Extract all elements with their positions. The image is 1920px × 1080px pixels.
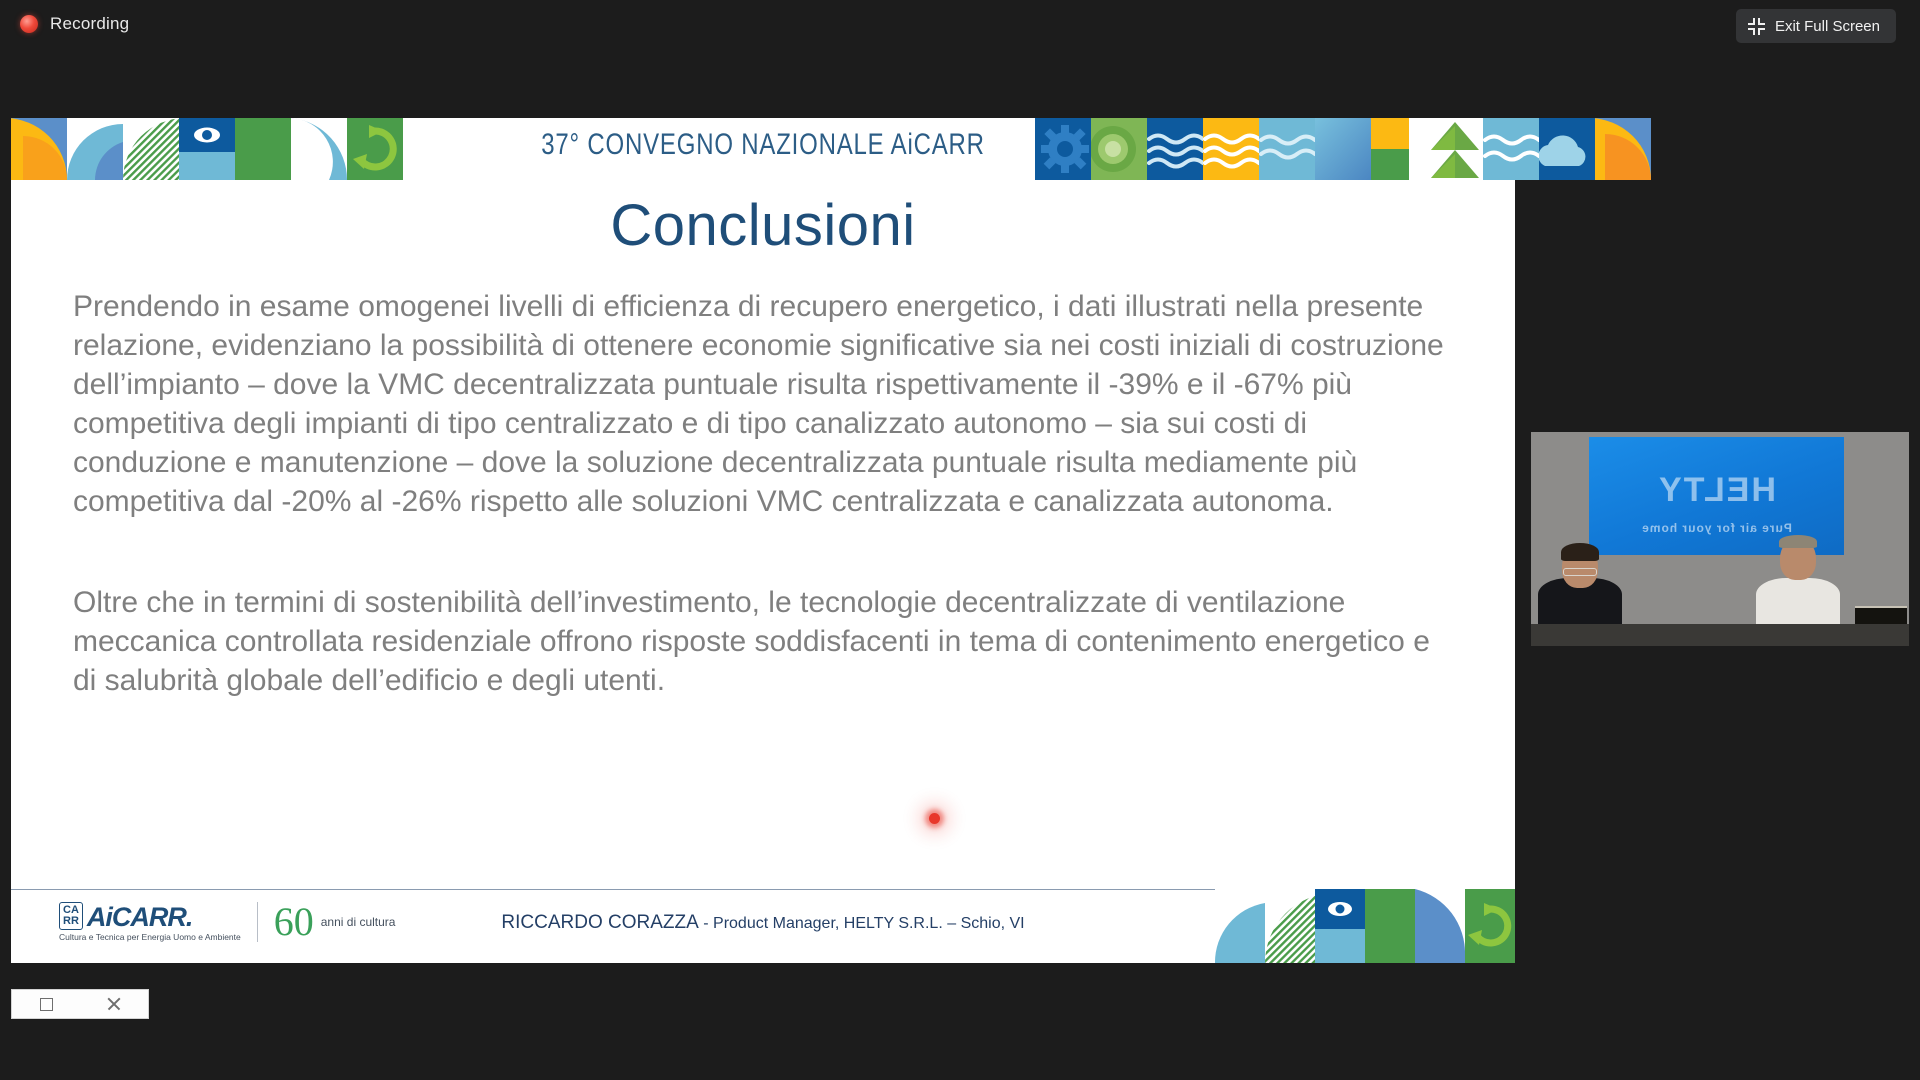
slide-paragraph-2: Oltre che in termini di sostenibilità de… (73, 583, 1455, 700)
tile-cloud-icon (1539, 118, 1595, 180)
top-bar: Recording Exit Full Screen (0, 0, 1920, 60)
slide-body: Prendendo in esame omogenei livelli di e… (73, 287, 1455, 700)
tile-waves-lightblue-icon (1259, 118, 1315, 180)
tile-waves-blue-icon (1147, 118, 1203, 180)
laser-pointer-dot (929, 813, 940, 824)
tile-trees-icon (1427, 118, 1483, 180)
tile-waves-teal-icon (1483, 118, 1539, 180)
slide-heading: Conclusioni (11, 192, 1515, 259)
tile-gear-icon (1035, 118, 1091, 180)
exit-full-screen-button[interactable]: Exit Full Screen (1736, 9, 1896, 43)
video-person-left-glasses-icon (1563, 568, 1597, 576)
video-person-right-hair (1779, 535, 1817, 548)
restore-window-button[interactable] (12, 990, 80, 1018)
tile-blue-arc-icon (67, 118, 123, 180)
footer-tile-recycle-arrows-icon (1465, 889, 1515, 963)
collapse-arrows-icon (1748, 18, 1765, 35)
video-monitor-object (1855, 606, 1907, 624)
video-person-right (1755, 538, 1841, 624)
projection-logo-text: HELTY (1589, 471, 1844, 510)
presentation-slide[interactable]: 37° CONVEGNO NAZIONALE AiCARR (11, 118, 1515, 963)
footer-tile-blue-arc-icon (1215, 889, 1265, 963)
window-controls-bar (11, 989, 149, 1019)
close-window-button[interactable] (80, 990, 148, 1018)
participant-video-thumbnail[interactable]: HELTY Pure air for your home (1531, 432, 1909, 646)
slide-paragraph-1: Prendendo in esame omogenei livelli di e… (73, 287, 1455, 521)
tile-yellow-green-squares-icon (1371, 118, 1427, 180)
presenter-name: RICCARDO CORAZZA (501, 912, 698, 933)
recording-dot-icon (20, 15, 38, 33)
footer-tiles-right (1215, 889, 1515, 963)
slide-header-band: 37° CONVEGNO NAZIONALE AiCARR (11, 118, 1515, 180)
tile-orange-arc-icon (11, 118, 67, 180)
tile-blue-gradient-icon (1315, 118, 1371, 180)
footer-tile-white-arc-icon (1415, 889, 1465, 963)
video-table (1531, 624, 1909, 646)
footer-tile-green-icon (1365, 889, 1415, 963)
slide-footer: CA RR AiCARR. Cultura e Tecnica per Ener… (11, 889, 1515, 963)
footer-tile-eye-icon (1315, 889, 1365, 963)
video-person-left-hair (1561, 543, 1599, 561)
footer-tile-diagonal-stripes-icon (1265, 889, 1315, 963)
tile-orange-arc-right-icon (1595, 118, 1651, 180)
tile-waves-yellow-icon (1203, 118, 1259, 180)
video-person-right-body (1756, 578, 1840, 624)
recording-label: Recording (50, 14, 129, 34)
tile-green-circle-icon (1091, 118, 1147, 180)
presenter-role: - Product Manager, HELTY S.R.L. – Schio,… (699, 915, 1025, 932)
projection-tagline-text: Pure air for your home (1589, 521, 1844, 535)
square-icon (40, 998, 53, 1011)
video-person-left (1537, 546, 1623, 624)
close-icon (106, 996, 122, 1012)
recording-indicator: Recording (20, 14, 129, 34)
exit-full-screen-label: Exit Full Screen (1775, 18, 1880, 35)
header-tiles-right (1035, 118, 1651, 180)
